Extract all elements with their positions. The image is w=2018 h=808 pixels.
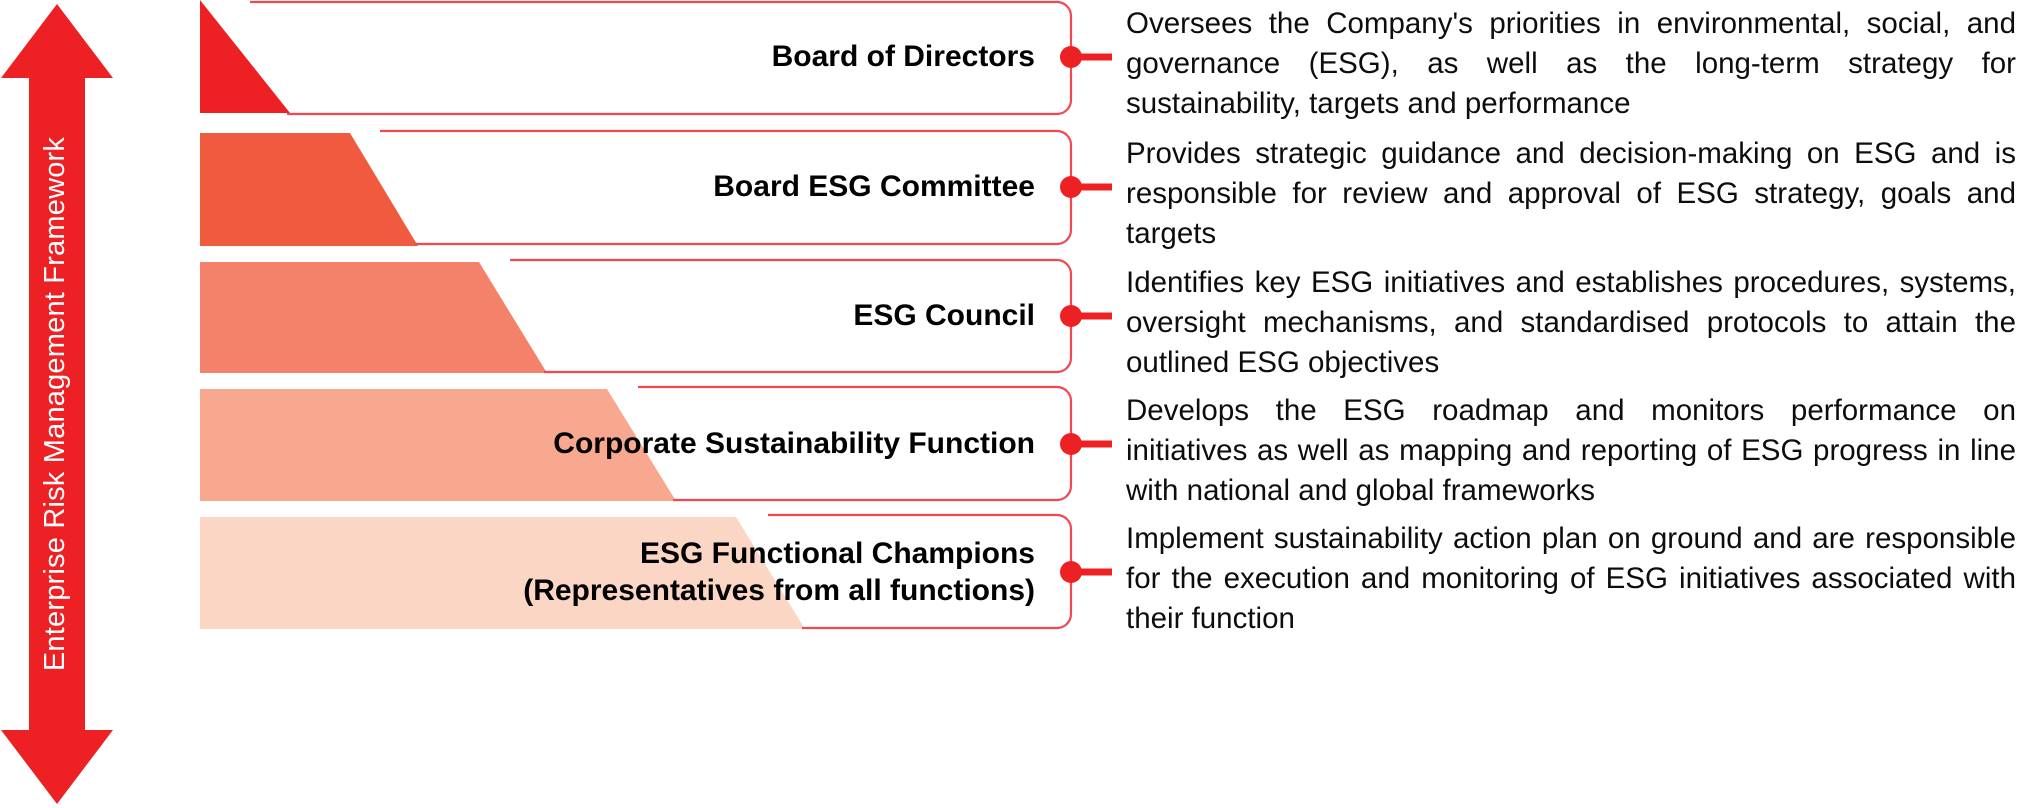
tier-title-board-of-directors: Board of Directors <box>480 38 1035 75</box>
connector-dot-2 <box>1060 176 1082 198</box>
tier-description-board-of-directors: Oversees the Company's priorities in env… <box>1126 4 2016 124</box>
connector-dot-4 <box>1060 433 1082 455</box>
connector-dot-1 <box>1060 46 1082 68</box>
tier-title-esg-council: ESG Council <box>480 297 1035 334</box>
tier-title-board-esg-committee: Board ESG Committee <box>480 168 1035 205</box>
tier-title-esg-functional-champions: ESG Functional Champions (Representative… <box>430 535 1035 609</box>
tier-description-board-esg-committee: Provides strategic guidance and decision… <box>1126 134 2016 254</box>
tier-description-esg-functional-champions: Implement sustainability action plan on … <box>1126 519 2016 639</box>
connector-dot-5 <box>1060 561 1082 583</box>
tier-description-esg-council: Identifies key ESG initiatives and estab… <box>1126 263 2016 383</box>
connector-dot-3 <box>1060 305 1082 327</box>
tier-description-corporate-sustainability-function: Develops the ESG roadmap and monitors pe… <box>1126 391 2016 511</box>
esg-governance-diagram: Enterprise Risk Management Framework <box>0 0 2018 808</box>
tier-title-corporate-sustainability-function: Corporate Sustainability Function <box>430 425 1035 462</box>
